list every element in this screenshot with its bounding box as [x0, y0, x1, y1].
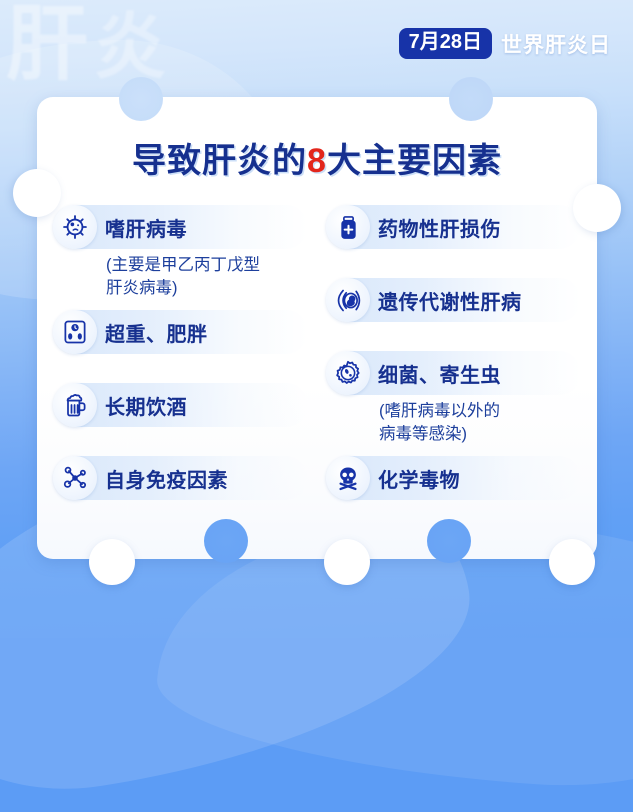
puzzle-knob-bottom-1	[89, 539, 135, 585]
factor-pill: 药物性肝损伤	[328, 205, 581, 249]
molecule-network-icon	[53, 456, 97, 500]
factor-label: 长期饮酒	[105, 391, 187, 420]
factor-pill: 嗜肝病毒	[55, 205, 308, 249]
weight-scale-icon	[53, 310, 97, 354]
puzzle-card: 导致肝炎的8大主要因素	[37, 97, 597, 559]
page-title: 导致肝炎的8大主要因素	[37, 133, 597, 182]
factor-pill: 细菌、寄生虫	[328, 351, 581, 395]
puzzle-notch-top-1	[119, 77, 163, 121]
header: 7月28日 世界肝炎日	[399, 28, 611, 59]
factor-item-hereditary-metabolic-liver-disease[interactable]: 遗传代谢性肝病	[328, 278, 581, 322]
puzzle-notch-top-2	[449, 77, 493, 121]
medicine-bottle-icon	[326, 205, 370, 249]
date-badge: 7月28日	[399, 28, 492, 59]
virus-icon	[53, 205, 97, 249]
factor-label: 化学毒物	[378, 464, 460, 493]
skull-crossbones-icon	[326, 456, 370, 500]
factor-pill: 长期饮酒	[55, 383, 308, 427]
watermark-char-1: 肝	[6, 0, 94, 90]
factor-label: 超重、肥胖	[105, 318, 208, 347]
factors-column-right: 药物性肝损伤 遗传代谢性肝病	[328, 205, 581, 535]
factor-label: 自身免疫因素	[105, 464, 228, 493]
factor-item-autoimmune[interactable]: 自身免疫因素	[55, 456, 308, 500]
factor-pill: 遗传代谢性肝病	[328, 278, 581, 322]
factor-label: 细菌、寄生虫	[378, 359, 501, 388]
factor-item-chemical-toxins[interactable]: 化学毒物	[328, 456, 581, 500]
factor-sublabel: (主要是甲乙丙丁戊型 肝炎病毒)	[106, 254, 308, 300]
beer-mug-icon	[53, 383, 97, 427]
factor-item-drug-induced-liver-injury[interactable]: 药物性肝损伤	[328, 205, 581, 249]
factor-label: 嗜肝病毒	[105, 213, 187, 242]
factor-item-overweight-obesity[interactable]: 超重、肥胖	[55, 310, 308, 354]
puzzle-knob-bottom-2	[324, 539, 370, 585]
factor-item-long-term-drinking[interactable]: 长期饮酒	[55, 383, 308, 427]
page-title-highlight: 8	[307, 142, 327, 180]
page-title-suffix: 大主要因素	[327, 142, 502, 180]
page-title-prefix: 导致肝炎的	[132, 142, 307, 180]
factor-pill: 超重、肥胖	[55, 310, 308, 354]
factors-grid: 嗜肝病毒 (主要是甲乙丙丁戊型 肝炎病毒) 超重、肥	[37, 205, 597, 535]
factor-label: 药物性肝损伤	[378, 213, 501, 242]
factor-pill: 自身免疫因素	[55, 456, 308, 500]
watermark-char-2: 炎	[94, 8, 172, 88]
factor-pill: 化学毒物	[328, 456, 581, 500]
header-title: 世界肝炎日	[501, 29, 611, 59]
factors-column-left: 嗜肝病毒 (主要是甲乙丙丁戊型 肝炎病毒) 超重、肥	[55, 205, 308, 535]
factor-sublabel: (嗜肝病毒以外的 病毒等感染)	[379, 400, 581, 446]
puzzle-knob-bottom-3	[549, 539, 595, 585]
factor-item-bacteria-parasites[interactable]: 细菌、寄生虫 (嗜肝病毒以外的 病毒等感染)	[328, 351, 581, 446]
factor-item-hepatotropic-virus[interactable]: 嗜肝病毒 (主要是甲乙丙丁戊型 肝炎病毒)	[55, 205, 308, 300]
bacteria-icon	[326, 351, 370, 395]
factor-label: 遗传代谢性肝病	[378, 286, 522, 315]
hereditary-embryo-icon	[326, 278, 370, 322]
